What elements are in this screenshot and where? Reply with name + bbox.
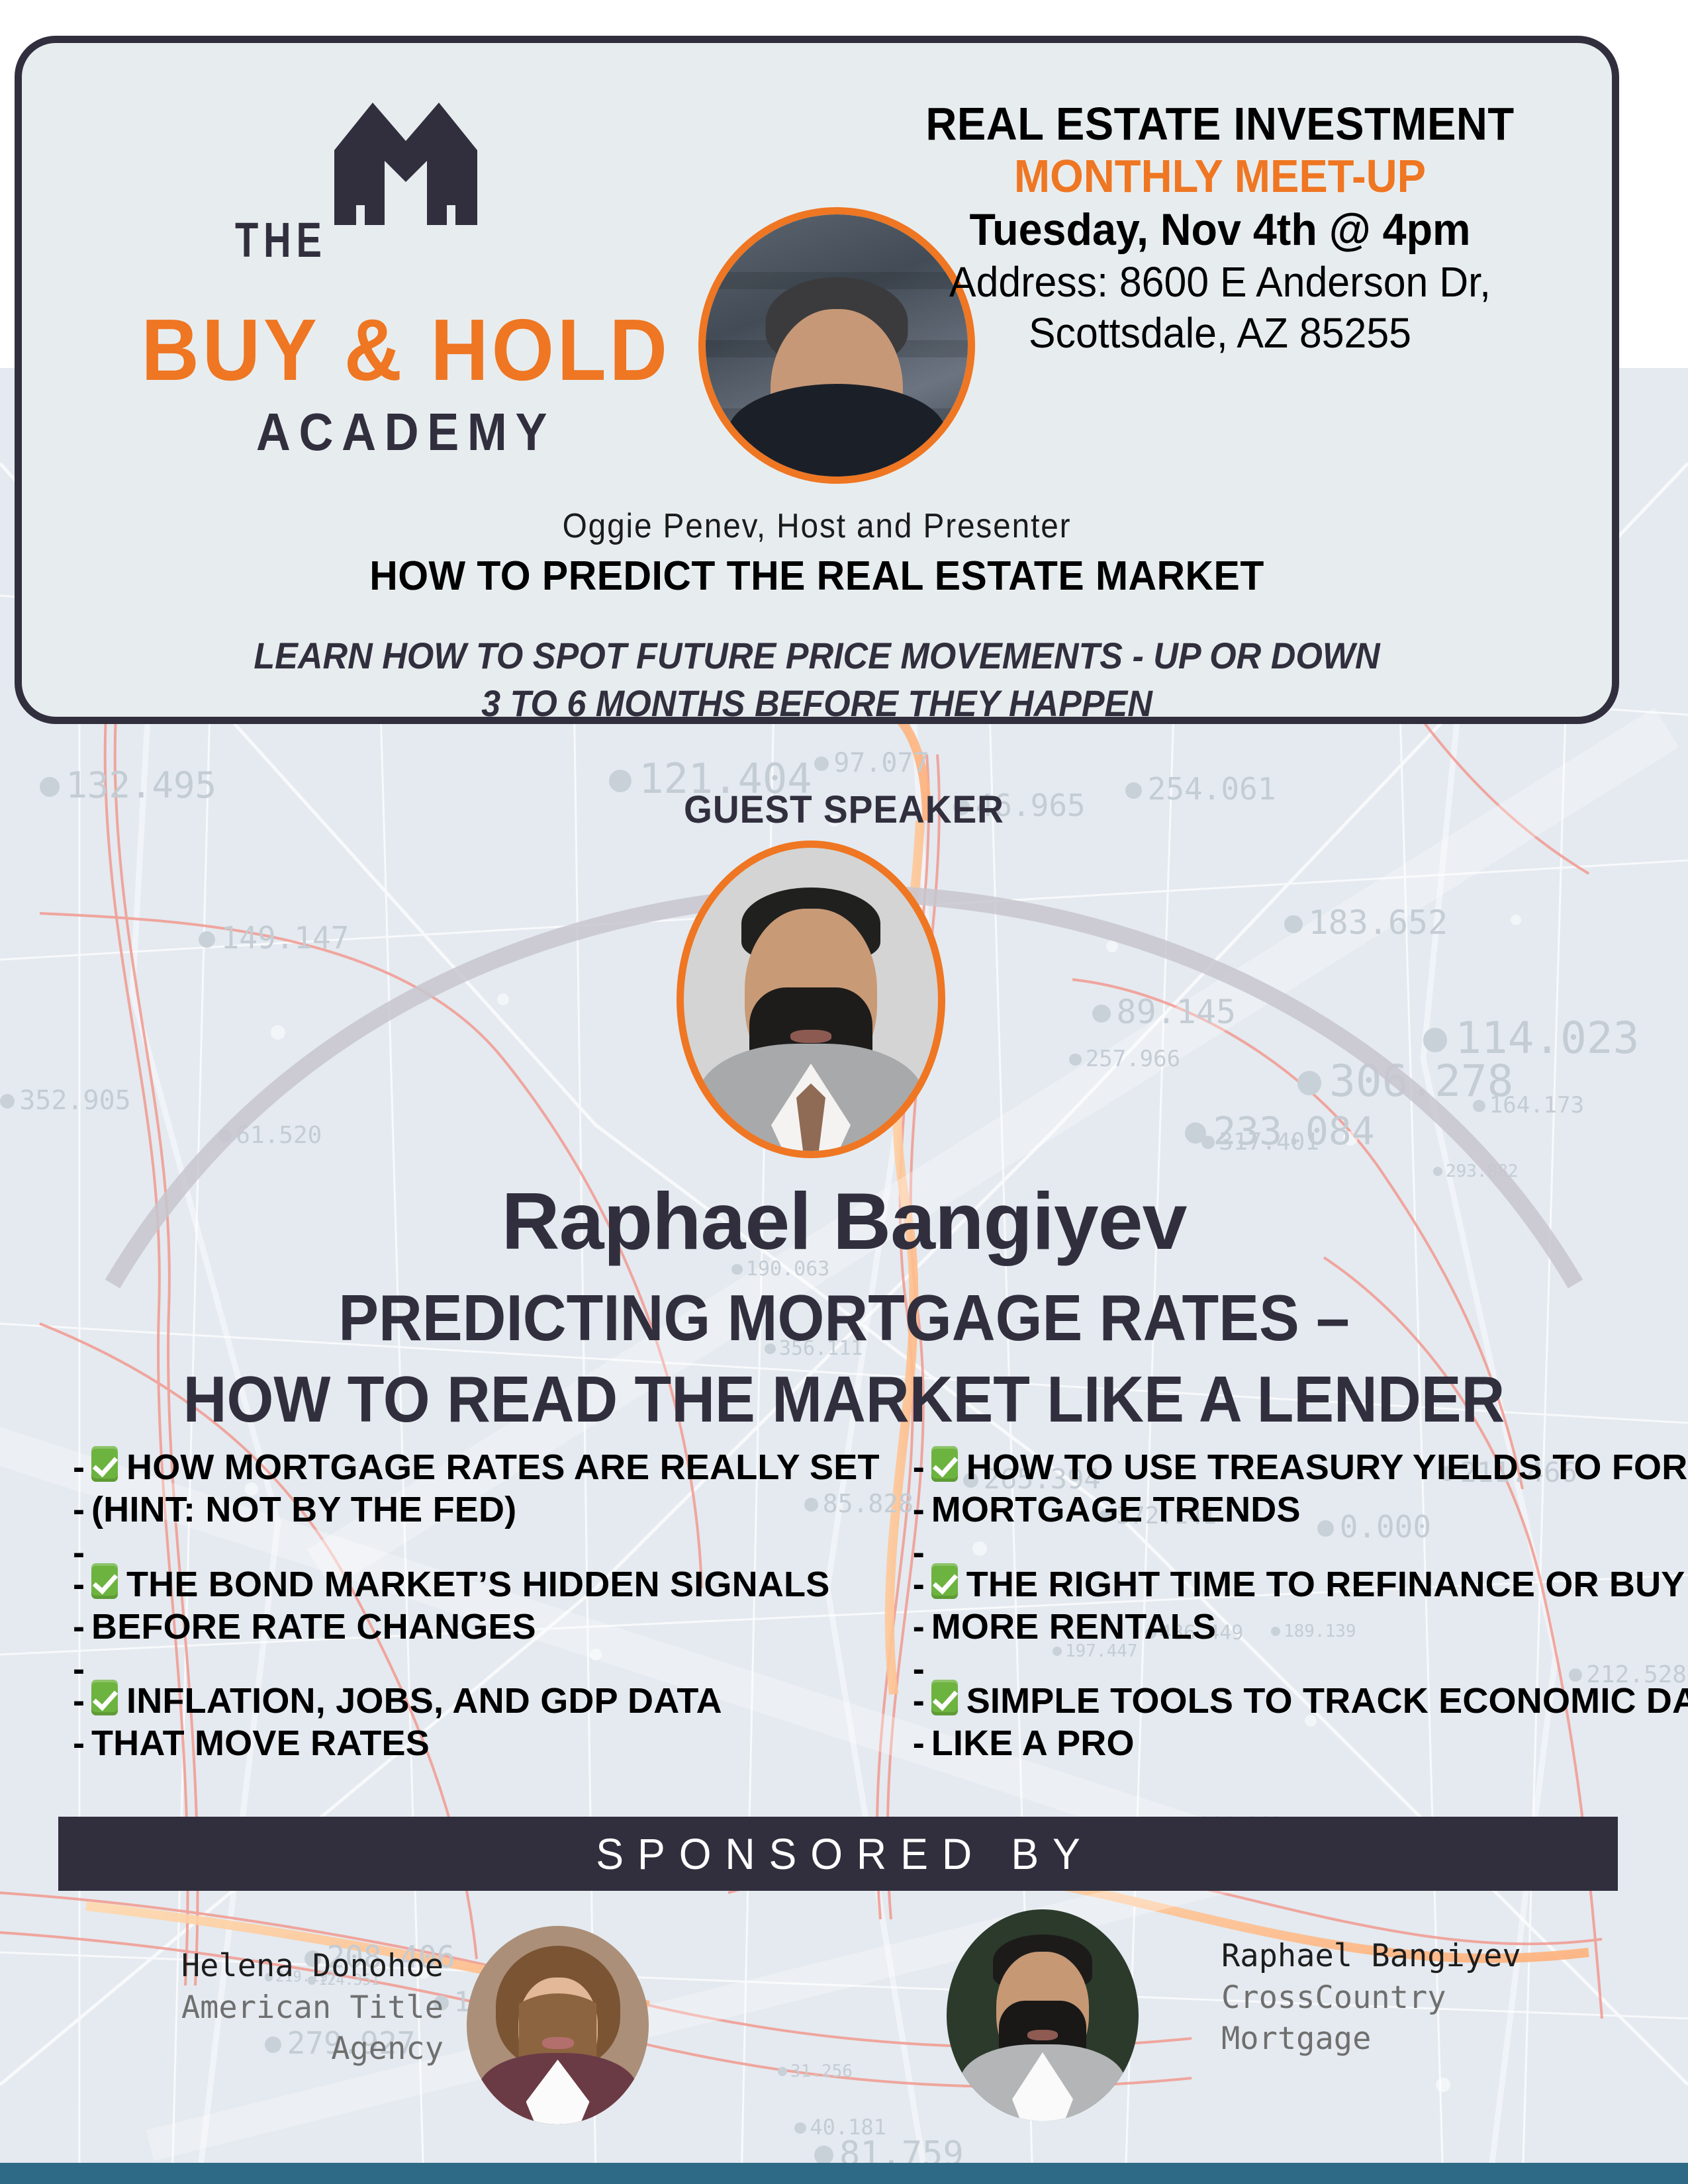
header-card: THE BUY & HOLD ACADEMY REAL ESTATE INVES… (15, 36, 1619, 724)
bullet-item: -MORE RENTALS (913, 1606, 1688, 1648)
bullet-item: -THAT MOVE RATES (73, 1722, 880, 1764)
sponsor-right-org-line1: CrossCountry (1221, 1978, 1592, 2019)
bullet-dash: - (913, 1446, 931, 1488)
bullet-text: LIKE A PRO (931, 1722, 1135, 1764)
event-address-line1: Address: 8600 E Anderson Dr, (887, 257, 1554, 308)
sponsor-left-org-line2: Agency (99, 2028, 444, 2070)
guest-speaker-name: Raphael Bangiyev (0, 1175, 1688, 1267)
bullet-dash: - (73, 1722, 91, 1764)
check-mark-icon (931, 1680, 958, 1715)
bullet-dash: - (913, 1680, 931, 1722)
guest-speaker-photo (677, 841, 945, 1158)
bullet-spacer: - (73, 1648, 880, 1680)
event-title-line2: MONTHLY MEET-UP (894, 150, 1546, 203)
bullet-spacer: - (913, 1648, 1688, 1680)
event-details: REAL ESTATE INVESTMENT MONTHLY MEET-UP T… (869, 99, 1571, 359)
bullet-text: MORTGAGE TRENDS (931, 1488, 1301, 1531)
header-subtitle: LEARN HOW TO SPOT FUTURE PRICE MOVEMENTS… (77, 632, 1556, 727)
guest-speaker-label: GUEST SPEAKER (42, 788, 1646, 832)
event-datetime: Tuesday, Nov 4th @ 4pm (887, 203, 1554, 257)
bullet-item: -(HINT: NOT BY THE FED) (73, 1488, 880, 1531)
sponsor-right-text: Raphael Bangiyev CrossCountry Mortgage (1221, 1936, 1592, 2060)
bullet-dash: - (913, 1606, 931, 1648)
bullet-item: -THE BOND MARKET’S HIDDEN SIGNALS (73, 1563, 880, 1606)
map-number: 31.256 (778, 2062, 853, 2081)
main-title-line2: HOW TO READ THE MARKET LIKE A LENDER (59, 1359, 1629, 1440)
bullet-spacer: - (913, 1531, 1688, 1563)
bullet-spacer: - (73, 1531, 880, 1563)
bullet-dash: - (73, 1563, 91, 1606)
bullet-text: HOW MORTGAGE RATES ARE REALLY SET (126, 1446, 880, 1488)
bottom-accent-strip (0, 2163, 1688, 2184)
house-logo-icon (273, 89, 538, 228)
map-number: 97.077 (814, 748, 929, 778)
sponsor-left-org-line1: American Title (99, 1987, 444, 2029)
sponsor-right-photo (947, 1909, 1139, 2121)
sponsor-left-name: Helena Donohoe (99, 1946, 444, 1987)
bullet-dash: - (73, 1680, 91, 1722)
host-topic: HOW TO PREDICT THE REAL ESTATE MARKET (62, 553, 1572, 600)
check-mark-icon (91, 1680, 118, 1715)
bullet-columns: -HOW MORTGAGE RATES ARE REALLY SET-(HINT… (73, 1446, 1615, 1765)
bullet-dash: - (913, 1488, 931, 1531)
academy-logo: THE BUY & HOLD ACADEMY (108, 89, 704, 459)
bullet-text: SIMPLE TOOLS TO TRACK ECONOMIC DATA (966, 1680, 1688, 1722)
main-title: PREDICTING MORTGAGE RATES – HOW TO READ … (59, 1277, 1629, 1441)
logo-academy: ACADEMY (138, 406, 674, 459)
main-title-line1: PREDICTING MORTGAGE RATES – (59, 1277, 1629, 1359)
bullet-dash: - (913, 1722, 931, 1764)
bullet-text: INFLATION, JOBS, AND GDP DATA (126, 1680, 722, 1722)
bullet-dash: - (73, 1488, 91, 1531)
bullet-item: -LIKE A PRO (913, 1722, 1688, 1764)
bullet-text: THAT MOVE RATES (91, 1722, 430, 1764)
bullet-text: THE BOND MARKET’S HIDDEN SIGNALS (126, 1563, 829, 1606)
logo-buy-and-hold: BUY & HOLD (132, 306, 680, 394)
header-subtitle-line2: 3 TO 6 MONTHS BEFORE THEY HAPPEN (77, 680, 1556, 727)
bullet-dash: - (73, 1606, 91, 1648)
host-caption: Oggie Penev, Host and Presenter (85, 506, 1548, 546)
header-subtitle-line1: LEARN HOW TO SPOT FUTURE PRICE MOVEMENTS… (77, 632, 1556, 680)
bullet-item: -HOW TO USE TREASURY YIELDS TO FORECAST (913, 1446, 1688, 1488)
bullet-item: -INFLATION, JOBS, AND GDP DATA (73, 1680, 880, 1722)
event-address-line2: Scottsdale, AZ 85255 (887, 308, 1554, 359)
check-mark-icon (931, 1563, 958, 1599)
check-mark-icon (91, 1446, 118, 1482)
sponsor-left-photo (467, 1926, 649, 2124)
event-title-line1: REAL ESTATE INVESTMENT (894, 99, 1546, 150)
bullet-dash: - (913, 1563, 931, 1606)
logo-the: THE (235, 212, 327, 268)
sponsor-right-name: Raphael Bangiyev (1221, 1936, 1592, 1978)
bullet-item: -THE RIGHT TIME TO REFINANCE OR BUY (913, 1563, 1688, 1606)
bullet-text: (HINT: NOT BY THE FED) (91, 1488, 516, 1531)
bullet-text: HOW TO USE TREASURY YIELDS TO FORECAST (966, 1446, 1688, 1488)
bullet-column-right: -HOW TO USE TREASURY YIELDS TO FORECAST-… (913, 1446, 1688, 1765)
bullet-column-left: -HOW MORTGAGE RATES ARE REALLY SET-(HINT… (73, 1446, 880, 1765)
bullet-item: -HOW MORTGAGE RATES ARE REALLY SET (73, 1446, 880, 1488)
sponsor-right-org-line2: Mortgage (1221, 2019, 1592, 2060)
sponsor-left-text: Helena Donohoe American Title Agency (99, 1946, 444, 2070)
bullet-text: THE RIGHT TIME TO REFINANCE OR BUY (966, 1563, 1685, 1606)
bullet-dash: - (73, 1446, 91, 1488)
bullet-item: -BEFORE RATE CHANGES (73, 1606, 880, 1648)
check-mark-icon (931, 1446, 958, 1482)
bullet-text: BEFORE RATE CHANGES (91, 1606, 536, 1648)
bullet-item: -SIMPLE TOOLS TO TRACK ECONOMIC DATA (913, 1680, 1688, 1722)
bullet-item: -MORTGAGE TRENDS (913, 1488, 1688, 1531)
sponsored-by-bar: SPONSORED BY (58, 1817, 1618, 1891)
check-mark-icon (91, 1563, 118, 1599)
sponsored-by-label: SPONSORED BY (582, 1829, 1094, 1879)
bullet-text: MORE RENTALS (931, 1606, 1216, 1648)
